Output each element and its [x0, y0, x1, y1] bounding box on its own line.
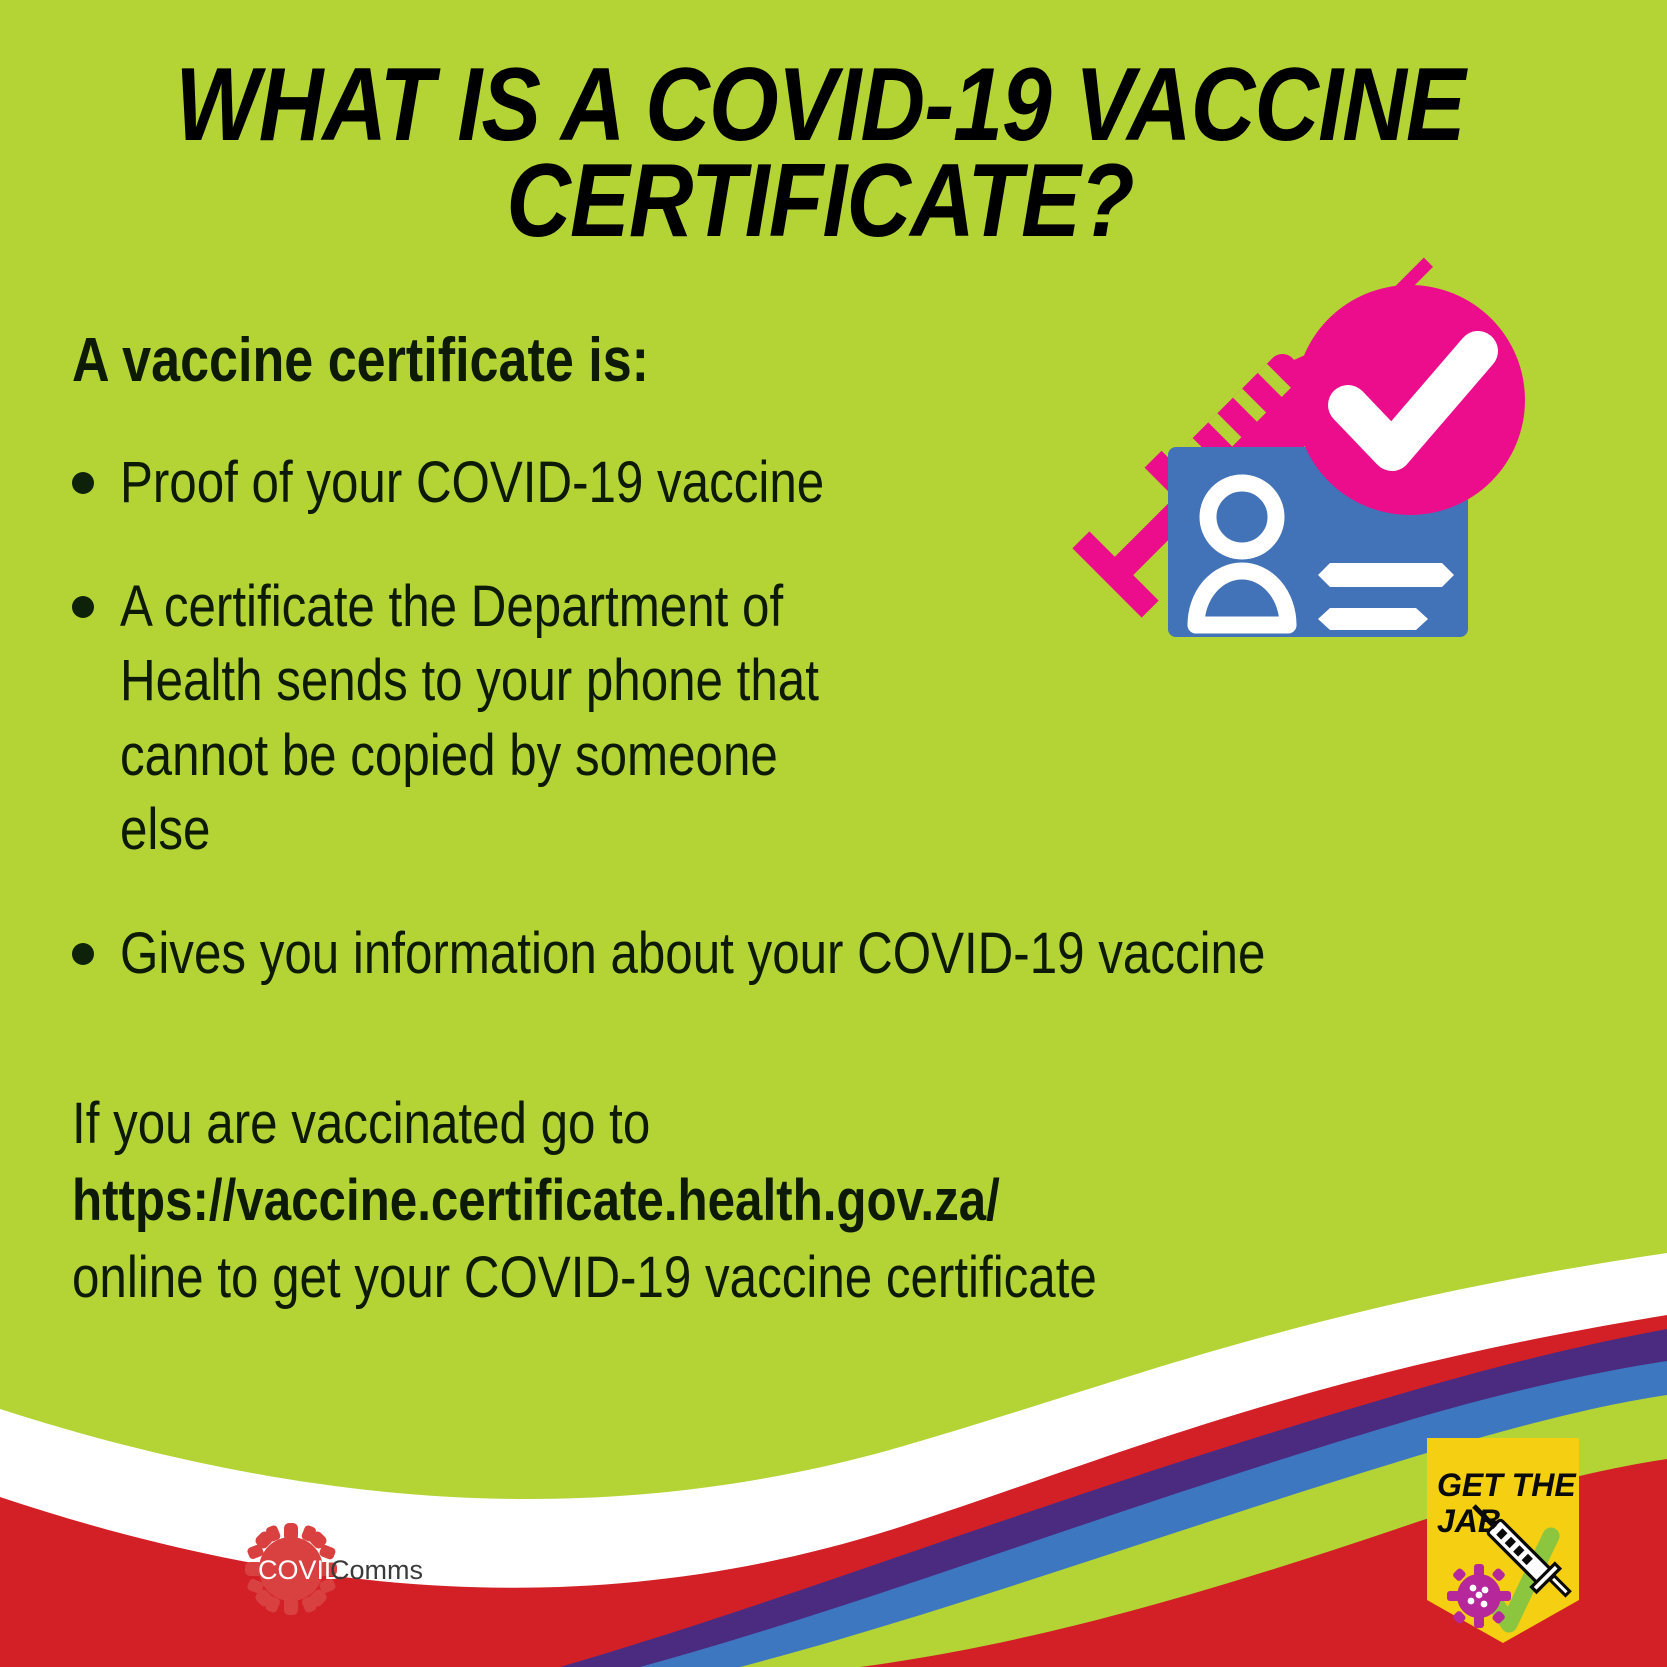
bullet-text: A certificate the Department of Health s…	[120, 570, 868, 867]
covidcomms-text-secondary: Comms	[330, 1555, 423, 1585]
closing-line-3: online to get your COVID-19 vaccine cert…	[72, 1239, 1347, 1316]
badge-line-1: GET THE	[1437, 1467, 1577, 1503]
certificate-url[interactable]: https://vaccine.certificate.health.gov.z…	[72, 1162, 1347, 1239]
bullet-list: Proof of your COVID-19 vaccine A certifi…	[72, 446, 1612, 1041]
bullet-dot-icon	[72, 943, 94, 965]
covidcomms-logo: COVID Comms	[236, 1513, 426, 1625]
page-title: WHAT IS A COVID-19 VACCINE CERTIFICATE?	[70, 58, 1570, 249]
list-item: Proof of your COVID-19 vaccine	[72, 446, 1612, 520]
badge-virus-icon	[1447, 1564, 1511, 1628]
list-item: A certificate the Department of Health s…	[72, 570, 1612, 867]
closing-paragraph: If you are vaccinated go to https://vacc…	[72, 1085, 1572, 1316]
title-line-2: CERTIFICATE?	[175, 154, 1465, 250]
lede-heading: A vaccine certificate is:	[72, 330, 649, 392]
bullet-text: Proof of your COVID-19 vaccine	[120, 446, 1388, 520]
get-the-jab-badge: GET THE JAB	[1423, 1438, 1583, 1643]
bullet-dot-icon	[72, 596, 94, 618]
list-item: Gives you information about your COVID-1…	[72, 917, 1612, 991]
poster-canvas: WHAT IS A COVID-19 VACCINE CERTIFICATE? …	[0, 0, 1667, 1667]
bullet-dot-icon	[72, 472, 94, 494]
closing-line-1: If you are vaccinated go to	[72, 1085, 1347, 1162]
bullet-text: Gives you information about your COVID-1…	[120, 917, 1388, 991]
title-line-1: WHAT IS A COVID-19 VACCINE	[175, 58, 1465, 154]
